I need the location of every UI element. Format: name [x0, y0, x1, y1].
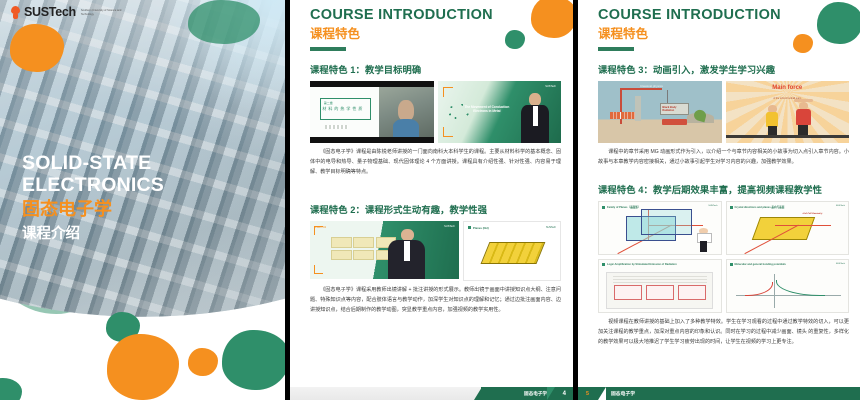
unit-cell-geometry-label: Unit Cell Geometry	[802, 213, 822, 215]
sustech-watermark-3: SUSTech	[546, 226, 556, 229]
annotation-cell	[353, 237, 374, 248]
slide-card-heading-4: Molecular and general bonding potentials	[730, 263, 786, 266]
feature-2-body: 《固态电子学》课程采用教师出镜讲解 + 批注讲授的形式展示。教师出镜于画面中讲授…	[310, 286, 561, 315]
corner-decoration-mid	[493, 0, 573, 62]
footer-page-number: 4	[563, 391, 566, 397]
slide-page-4[interactable]: COURSE INTRODUCTION 课程特色 课程特色 1：教学目标明确 第…	[290, 0, 573, 400]
ground-line	[726, 135, 850, 138]
cartoon-legs	[700, 241, 707, 252]
unit-cell-geometry-graphic: Unit Cell Geometry	[752, 217, 816, 240]
cover-subtitle-cn: 课程介绍	[22, 227, 164, 243]
header-title-cn-right: 课程特色	[598, 28, 781, 41]
corner-blob-orange-right	[793, 34, 813, 53]
decorative-blob-green-bottom-right	[222, 330, 285, 390]
decorative-blob-green-bottom-left	[0, 378, 22, 400]
axis-b-2	[775, 225, 831, 226]
slide-thumbnail-strip	[325, 125, 348, 129]
footballer-red	[792, 98, 814, 136]
instructor-figure	[519, 93, 551, 143]
crane-hook-line	[667, 90, 668, 104]
feature-2-heading: 课程特色 2：课程形式生动有趣，教学性强	[310, 202, 561, 216]
bracket-bottom-left	[443, 127, 453, 137]
slide-header-mid: COURSE INTRODUCTION 课程特色	[310, 8, 493, 51]
footballer-yellow-body	[766, 112, 778, 127]
slide-card-heading-2: Crystal directions and planes 晶向与晶面	[730, 205, 785, 209]
plot-curve-green	[776, 280, 825, 296]
footer-page-number-right: 5	[586, 391, 589, 397]
unit-cell-cube	[626, 216, 677, 242]
slide-card-heading: Family of Planes（晶面族）	[602, 205, 640, 209]
crystal-direction-planes-slide-still[interactable]: Crystal directions and planes 晶向与晶面 SUST…	[726, 201, 850, 255]
bracket-bottom-left-2	[314, 265, 323, 274]
header-accent-bar-right	[598, 47, 634, 51]
feature-section-4: 课程特色 4：教学后期效果丰富，提高视频课程教学性 Family of Plan…	[598, 182, 849, 347]
slide-footer-right: 5 固态电子学	[578, 387, 860, 400]
sustech-watermark-4: SUSTech	[708, 205, 717, 207]
logic-amplification-slide-still[interactable]: Logic Amplification by Stimulated Emissi…	[598, 259, 722, 313]
feature-1-heading: 课程特色 1：教学目标明确	[310, 62, 561, 76]
footer-slash	[598, 387, 606, 400]
slide-outline-box	[320, 98, 371, 120]
cover-title-en-line2: ELECTRONICS	[22, 174, 164, 196]
decorative-blob-orange-large	[107, 334, 179, 400]
slide-footer-mid: 固态电子学 4	[290, 387, 573, 400]
feature-3-body: 课程中的章节采用 MG 动画形式作为引入，以介绍一个与章节内容相关的小故事为切入…	[598, 148, 849, 168]
brick-wall	[610, 112, 635, 119]
decorative-blob-orange-small	[188, 348, 218, 376]
emission-diagram	[606, 272, 713, 308]
course-intro-video-still[interactable]: The Movement of Conduction Electrons in …	[438, 81, 562, 143]
feature-2-image-row: Poem 2/2 SUSTech Planes (hkl) SUSTech	[310, 221, 561, 281]
plot-curve-red	[745, 282, 773, 296]
potential-energy-plot	[736, 274, 841, 308]
header-title-cn: 课程特色	[310, 28, 493, 41]
slide-header-right: COURSE INTRODUCTION 课程特色	[598, 8, 781, 51]
sustech-wordmark: SUSTech	[24, 6, 76, 19]
annotation-cell	[353, 250, 374, 261]
footballer-yellow	[763, 105, 783, 136]
cover-title-block: SOLID-STATE ELECTRONICS 固态电子学 课程介绍	[22, 152, 164, 243]
corner-decoration-right	[781, 0, 860, 62]
annotation-cell	[331, 237, 352, 248]
instructor-figure-2	[387, 229, 426, 279]
feature-3-heading: 课程特色 3：动画引入，激发学生学习兴趣	[598, 62, 849, 76]
feature-4-body: 视频课程在教师讲授的基础上加入了多种教学特效。学生在学习观看的过程中通过教学特效…	[598, 318, 849, 347]
feature-1-image-row: 第二章 材料的热学性质 The Movement of Conduction E…	[310, 81, 561, 143]
truck-graphic	[662, 119, 687, 125]
header-title-en: COURSE INTRODUCTION	[310, 8, 493, 23]
diagram-text-lines	[613, 276, 707, 284]
black-body-radiation-sign: Black Body Radiation	[660, 103, 689, 115]
footer-wedge	[547, 387, 555, 400]
footer-course-name: 固态电子学	[524, 391, 547, 397]
molecular-bonding-plot-slide-still[interactable]: Molecular and general bonding potentials…	[726, 259, 850, 313]
diagram-panel	[678, 285, 706, 300]
header-accent-bar	[310, 47, 346, 51]
main-force-animation-still[interactable]: Main force of the school football team	[726, 81, 850, 143]
feature-1-body: 《固态电子学》课程是由陈锐老师讲授的一门面向南科大本科学生的课程。主要从材料科学…	[310, 148, 561, 177]
slide-tag-label: Poem 2/2	[315, 226, 326, 229]
instructor-camera-feed	[379, 87, 434, 137]
corner-blob-green	[505, 30, 525, 49]
feature-4-heading: 课程特色 4：教学后期效果丰富，提高视频课程教学性	[598, 182, 849, 196]
slide-deck-strip: SUSTech Southern University of Science a…	[0, 0, 860, 400]
crystal-plane-diagram-still[interactable]: Planes (hkl) SUSTech	[463, 221, 561, 281]
sign-label: Black Body Radiation	[662, 106, 688, 112]
header-title-en-right: COURSE INTRODUCTION	[598, 8, 781, 23]
sustech-logo-subtitle: Southern University of Science and Techn…	[81, 9, 123, 16]
annotated-lecture-slide-still[interactable]: Poem 2/2 SUSTech	[310, 221, 459, 279]
tower-block	[635, 96, 641, 121]
footballer-red-arms	[794, 99, 814, 102]
diagram-slide-heading: Planes (hkl)	[468, 226, 489, 230]
classical-physics-animation-still[interactable]: Classical physics Black Body Radiation	[598, 81, 722, 143]
instructor-shirt-2	[404, 241, 409, 261]
slide-page-5[interactable]: COURSE INTRODUCTION 课程特色 课程特色 3：动画引入，激发学…	[578, 0, 860, 400]
corner-blob-green-right	[817, 2, 860, 44]
crystal-plane-graphic	[481, 242, 546, 264]
slide-card-heading-3: Logic Amplification by Stimulated Emissi…	[602, 263, 677, 266]
cover-slide[interactable]: SUSTech Southern University of Science a…	[0, 0, 285, 400]
feature-4-image-grid: Family of Planes（晶面族） SUSTech Crystal di…	[598, 201, 849, 313]
sustech-watermark-2: SUSTech	[444, 225, 455, 228]
feature-section-2: 课程特色 2：课程形式生动有趣，教学性强 Poem 2/2 SUS	[310, 202, 561, 315]
plot-y-axis	[774, 274, 775, 308]
sustech-watermark-6: SUSTech	[836, 263, 845, 265]
instructor-shirt	[533, 106, 538, 126]
footballer-red-body	[796, 109, 811, 125]
annotation-cell	[331, 250, 352, 261]
sustech-logo: SUSTech Southern University of Science a…	[10, 6, 123, 19]
sustech-watermark: SUSTech	[545, 85, 556, 88]
lecture-video-still-with-instructor[interactable]: 第二章 材料的热学性质	[310, 81, 434, 143]
crane-jib	[620, 88, 662, 90]
cover-title-cn: 固态电子学	[22, 200, 164, 220]
corner-blob-orange	[531, 0, 573, 38]
feature-section-3: 课程特色 3：动画引入，激发学生学习兴趣 Classical physics B…	[598, 62, 849, 168]
bracket-top-left	[443, 87, 453, 97]
cover-title-en-line1: SOLID-STATE	[22, 152, 164, 174]
diagram-panel-row	[614, 285, 706, 300]
family-of-planes-slide-still[interactable]: Family of Planes（晶面族） SUSTech	[598, 201, 722, 255]
instructor-cartoon	[696, 228, 711, 252]
diagram-panel	[646, 285, 674, 300]
diagram-panel	[614, 285, 642, 300]
slide-content-left: 第二章 材料的热学性质	[310, 87, 379, 137]
sustech-flame-icon	[10, 6, 21, 19]
feature-section-1: 课程特色 1：教学目标明确 第二章 材料的热学性质	[310, 62, 561, 177]
sustech-watermark-5: SUSTech	[836, 205, 845, 207]
feature-3-image-row: Classical physics Black Body Radiation	[598, 81, 849, 143]
animation-subtitle: of the school football team	[726, 97, 850, 100]
footer-course-name-right: 固态电子学	[611, 390, 635, 397]
animation-title: Main force	[726, 85, 850, 91]
video-title-overlay: The Movement of Conduction Electrons in …	[462, 105, 511, 115]
